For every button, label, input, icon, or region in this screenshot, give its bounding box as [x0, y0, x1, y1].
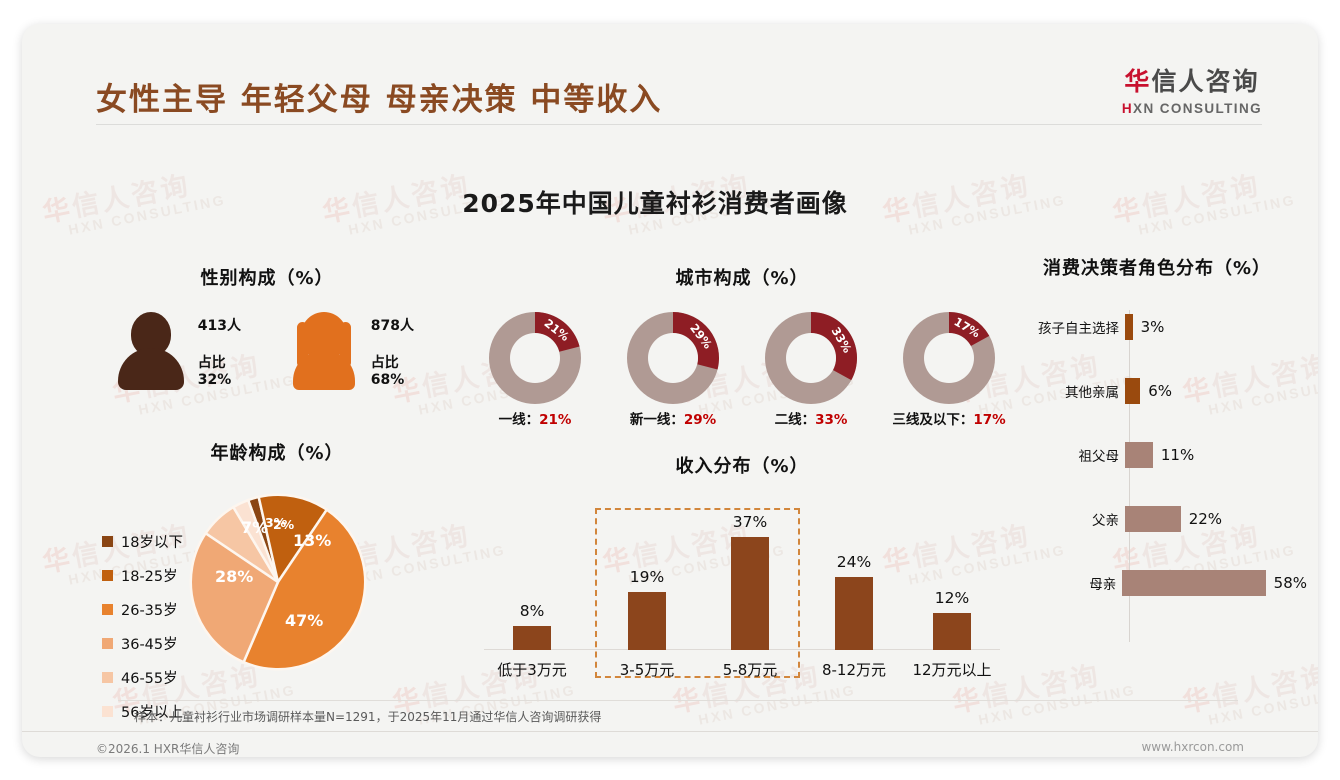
income-category-label: 12万元以上: [899, 659, 1005, 680]
income-title: 收入分布（%）: [472, 452, 1012, 478]
company-logo: 华信人咨询 HXN CONSULTING: [1122, 62, 1262, 116]
income-bar-value: 24%: [804, 553, 904, 571]
legend-label: 46-55岁: [121, 667, 178, 688]
watermark: 华信人咨询HXN CONSULTING: [1179, 647, 1318, 732]
income-category-label: 低于3万元: [479, 659, 585, 680]
decider-label: 孩子自主选择: [1007, 317, 1125, 337]
female-silhouette-icon: [289, 312, 359, 390]
income-bar: [933, 613, 971, 650]
female-share: 占比68%: [371, 352, 432, 388]
legend-swatch-icon: [102, 706, 113, 717]
income-category-label: 5-8万元: [697, 659, 803, 680]
income-bar-value: 12%: [902, 589, 1002, 607]
gender-item-male: 413人 占比32%: [116, 312, 259, 390]
income-category-label: 8-12万元: [801, 659, 907, 680]
city-donut-1: 21%一线：21%: [476, 312, 594, 428]
decider-row: 其他亲属6%: [1007, 374, 1307, 408]
male-count: 413人: [198, 315, 259, 335]
pie-label-26-35: 13%: [293, 531, 331, 550]
decider-bar: [1125, 442, 1153, 468]
income-bar: [513, 626, 551, 650]
legend-swatch-icon: [102, 638, 113, 649]
donut-caption-value: 17%: [973, 412, 1005, 428]
donut-caption-value: 29%: [684, 412, 716, 428]
age-legend-item: 46-55岁: [102, 667, 183, 688]
donut-caption-name: 一线：: [499, 412, 540, 428]
female-count: 878人: [371, 315, 432, 335]
donut-caption-name: 二线：: [775, 412, 816, 428]
decider-value: 58%: [1274, 574, 1307, 592]
sample-note: 样本：儿童衬衫行业市场调研样本量N=1291，于2025年11月通过华信人咨询调…: [134, 708, 601, 725]
income-panel: 收入分布（%） 8%低于3万元19%3-5万元37%5-8万元24%8-12万元…: [472, 452, 1012, 680]
age-panel: 年龄构成（%） 18岁以下18-25岁26-35岁36-45岁46-55岁56岁…: [102, 439, 452, 735]
decider-label: 母亲: [1007, 573, 1122, 593]
income-bar-column: 37%: [700, 513, 800, 650]
logo-english: HXN CONSULTING: [1122, 101, 1262, 116]
donut-caption-value: 33%: [815, 412, 847, 428]
legend-swatch-icon: [102, 672, 113, 683]
decider-row: 母亲58%: [1007, 566, 1307, 600]
income-bar-column: 12%: [902, 589, 1002, 650]
legend-label: 18-25岁: [121, 565, 178, 586]
legend-label: 26-35岁: [121, 599, 178, 620]
page-title-text: 2025年中国儿童衬衫消费者画像: [462, 189, 848, 218]
legend-label: 36-45岁: [121, 633, 178, 654]
decider-plot: 孩子自主选择3%其他亲属6%祖父母11%父亲22%母亲58%: [1007, 310, 1307, 650]
donut-chart: 29%: [627, 312, 719, 404]
decider-panel: 消费决策者角色分布（%） 孩子自主选择3%其他亲属6%祖父母11%父亲22%母亲…: [1007, 254, 1307, 650]
gender-item-female: 878人 占比68%: [289, 312, 432, 390]
slide-header: 女性主导 年轻父母 母亲决策 中等收入 华信人咨询 HXN CONSULTING: [22, 24, 1318, 124]
decider-value: 3%: [1141, 318, 1165, 336]
website-url: www.hxrcon.com: [1141, 740, 1244, 754]
donut-chart: 21%: [489, 312, 581, 404]
income-bar: [835, 577, 873, 650]
income-bar-column: 24%: [804, 553, 904, 650]
header-divider: [96, 124, 1262, 125]
income-bar-value: 8%: [482, 602, 582, 620]
decider-bar: [1125, 314, 1133, 340]
male-silhouette-icon: [116, 312, 186, 390]
donut-chart: 33%: [765, 312, 857, 404]
income-category-label: 3-5万元: [594, 659, 700, 680]
page-title: 2025年中国儿童衬衫消费者画像: [22, 184, 1318, 220]
gender-panel: 性别构成（%） 413人 占比32%: [102, 264, 432, 390]
donut-caption-name: 新一线：: [630, 412, 684, 428]
city-donut-3: 33%二线：33%: [752, 312, 870, 428]
pie-label-28: 28%: [215, 567, 253, 586]
income-bar: [628, 592, 666, 650]
footer-divider: [22, 731, 1318, 732]
donut-caption: 三线及以下：17%: [890, 408, 1008, 428]
header-title: 女性主导 年轻父母 母亲决策 中等收入: [96, 74, 662, 119]
donut-caption: 二线：33%: [752, 408, 870, 428]
note-divider: [118, 700, 1238, 701]
decider-value: 11%: [1161, 446, 1194, 464]
logo-en-red: H: [1122, 101, 1133, 116]
donut-chart: 17%: [903, 312, 995, 404]
age-legend-item: 18-25岁: [102, 565, 183, 586]
logo-cn-red: 华: [1124, 67, 1151, 96]
age-title: 年龄构成（%）: [102, 439, 452, 465]
female-stats: 878人 占比68%: [371, 315, 432, 388]
donut-caption-value: 21%: [539, 412, 571, 428]
donut-caption: 新一线：29%: [614, 408, 732, 428]
age-pie-wrap: 13% 47% 28% 7% 3% 2%: [189, 493, 367, 671]
city-donut-2: 29%新一线：29%: [614, 312, 732, 428]
decider-label: 父亲: [1007, 509, 1125, 529]
legend-swatch-icon: [102, 604, 113, 615]
gender-items: 413人 占比32% 878人 占比68%: [102, 312, 432, 390]
donut-caption-name: 三线及以下：: [892, 412, 973, 428]
income-bar-column: 8%: [482, 602, 582, 650]
copyright-text: ©2026.1 HXR华信人咨询: [96, 740, 239, 757]
decider-row: 孩子自主选择3%: [1007, 310, 1307, 344]
city-donut-4: 17%三线及以下：17%: [890, 312, 1008, 428]
decider-title: 消费决策者角色分布（%）: [1007, 254, 1307, 280]
gender-title: 性别构成（%）: [102, 264, 432, 290]
pie-label-2: 2%: [273, 517, 294, 532]
decider-bar: [1125, 378, 1140, 404]
decider-bar: [1125, 506, 1181, 532]
age-legend: 18岁以下18-25岁26-35岁36-45岁46-55岁56岁以上: [102, 483, 183, 735]
male-share: 占比32%: [198, 352, 259, 388]
decider-row: 父亲22%: [1007, 502, 1307, 536]
decider-value: 6%: [1148, 382, 1172, 400]
income-bar-value: 37%: [700, 513, 800, 531]
age-legend-item: 36-45岁: [102, 633, 183, 654]
decider-value: 22%: [1189, 510, 1222, 528]
male-stats: 413人 占比32%: [198, 315, 259, 388]
city-panel: 城市构成（%） 21%一线：21%29%新一线：29%33%二线：33%17%三…: [462, 264, 1022, 428]
income-bar-value: 19%: [597, 568, 697, 586]
city-donut-row: 21%一线：21%29%新一线：29%33%二线：33%17%三线及以下：17%: [462, 312, 1022, 428]
pie-label-47: 47%: [285, 611, 323, 630]
decider-row: 祖父母11%: [1007, 438, 1307, 472]
legend-label: 18岁以下: [121, 531, 183, 552]
decider-label: 祖父母: [1007, 445, 1125, 465]
age-body: 18岁以下18-25岁26-35岁36-45岁46-55岁56岁以上 13% 4…: [102, 483, 452, 735]
logo-en-rest: XN CONSULTING: [1133, 101, 1262, 116]
decider-label: 其他亲属: [1007, 381, 1125, 401]
income-bar-column: 19%: [597, 568, 697, 650]
logo-chinese: 华信人咨询: [1122, 62, 1262, 98]
donut-caption: 一线：21%: [476, 408, 594, 428]
legend-swatch-icon: [102, 536, 113, 547]
slide-canvas: 华信人咨询HXN CONSULTING华信人咨询HXN CONSULTING华信…: [22, 24, 1318, 757]
income-bar: [731, 537, 769, 650]
city-title: 城市构成（%）: [462, 264, 1022, 290]
logo-cn-rest: 信人咨询: [1151, 67, 1259, 96]
income-plot: 8%低于3万元19%3-5万元37%5-8万元24%8-12万元12%12万元以…: [472, 500, 1012, 680]
age-legend-item: 26-35岁: [102, 599, 183, 620]
decider-bar: [1122, 570, 1265, 596]
legend-swatch-icon: [102, 570, 113, 581]
age-legend-item: 18岁以下: [102, 531, 183, 552]
